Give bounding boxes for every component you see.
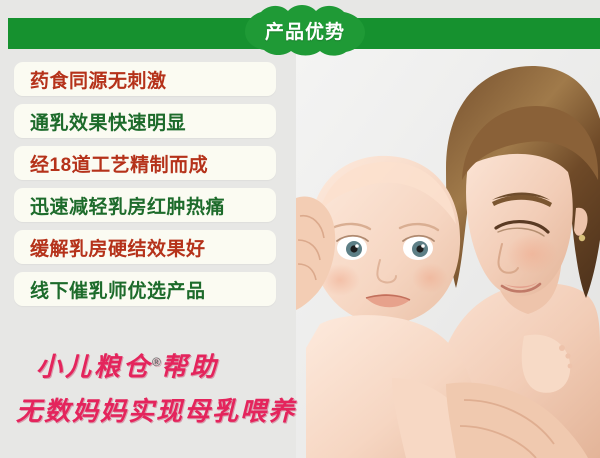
feature-item: 迅速减轻乳房红肿热痛 (14, 188, 276, 222)
mother-and-baby-photo (296, 48, 600, 458)
feature-text: 经18道工艺精制而成 (30, 150, 208, 177)
slogan-line-1: 小儿粮仓®帮助 (14, 340, 304, 389)
brand-name: 小儿粮仓 (36, 352, 152, 382)
product-advantage-poster: 产品优势 药食同源无刺激 通乳效果快速明显 经18道工艺精制而成 迅速减轻乳房红… (0, 0, 600, 458)
feature-text: 通乳效果快速明显 (30, 108, 186, 135)
feature-text: 线下催乳师优选产品 (30, 276, 206, 303)
slogan-line-1-tail: 帮助 (161, 352, 219, 382)
registered-trademark-symbol: ® (152, 355, 161, 369)
feature-text: 药食同源无刺激 (30, 66, 167, 93)
feature-text: 缓解乳房硬结效果好 (30, 234, 206, 261)
photo-illustration (296, 48, 600, 458)
section-title-text: 产品优势 (243, 4, 367, 56)
feature-item: 通乳效果快速明显 (14, 104, 276, 138)
feature-item: 经18道工艺精制而成 (14, 146, 276, 180)
brand-slogan: 小儿粮仓®帮助 无数妈妈实现母乳喂养 (14, 340, 304, 433)
section-title-badge: 产品优势 (243, 4, 367, 56)
feature-list: 药食同源无刺激 通乳效果快速明显 经18道工艺精制而成 迅速减轻乳房红肿热痛 缓… (14, 62, 276, 314)
feature-item: 缓解乳房硬结效果好 (14, 230, 276, 264)
feature-item: 药食同源无刺激 (14, 62, 276, 96)
slogan-line-2: 无数妈妈实现母乳喂养 (14, 389, 304, 433)
feature-item: 线下催乳师优选产品 (14, 272, 276, 306)
feature-text: 迅速减轻乳房红肿热痛 (30, 192, 225, 219)
